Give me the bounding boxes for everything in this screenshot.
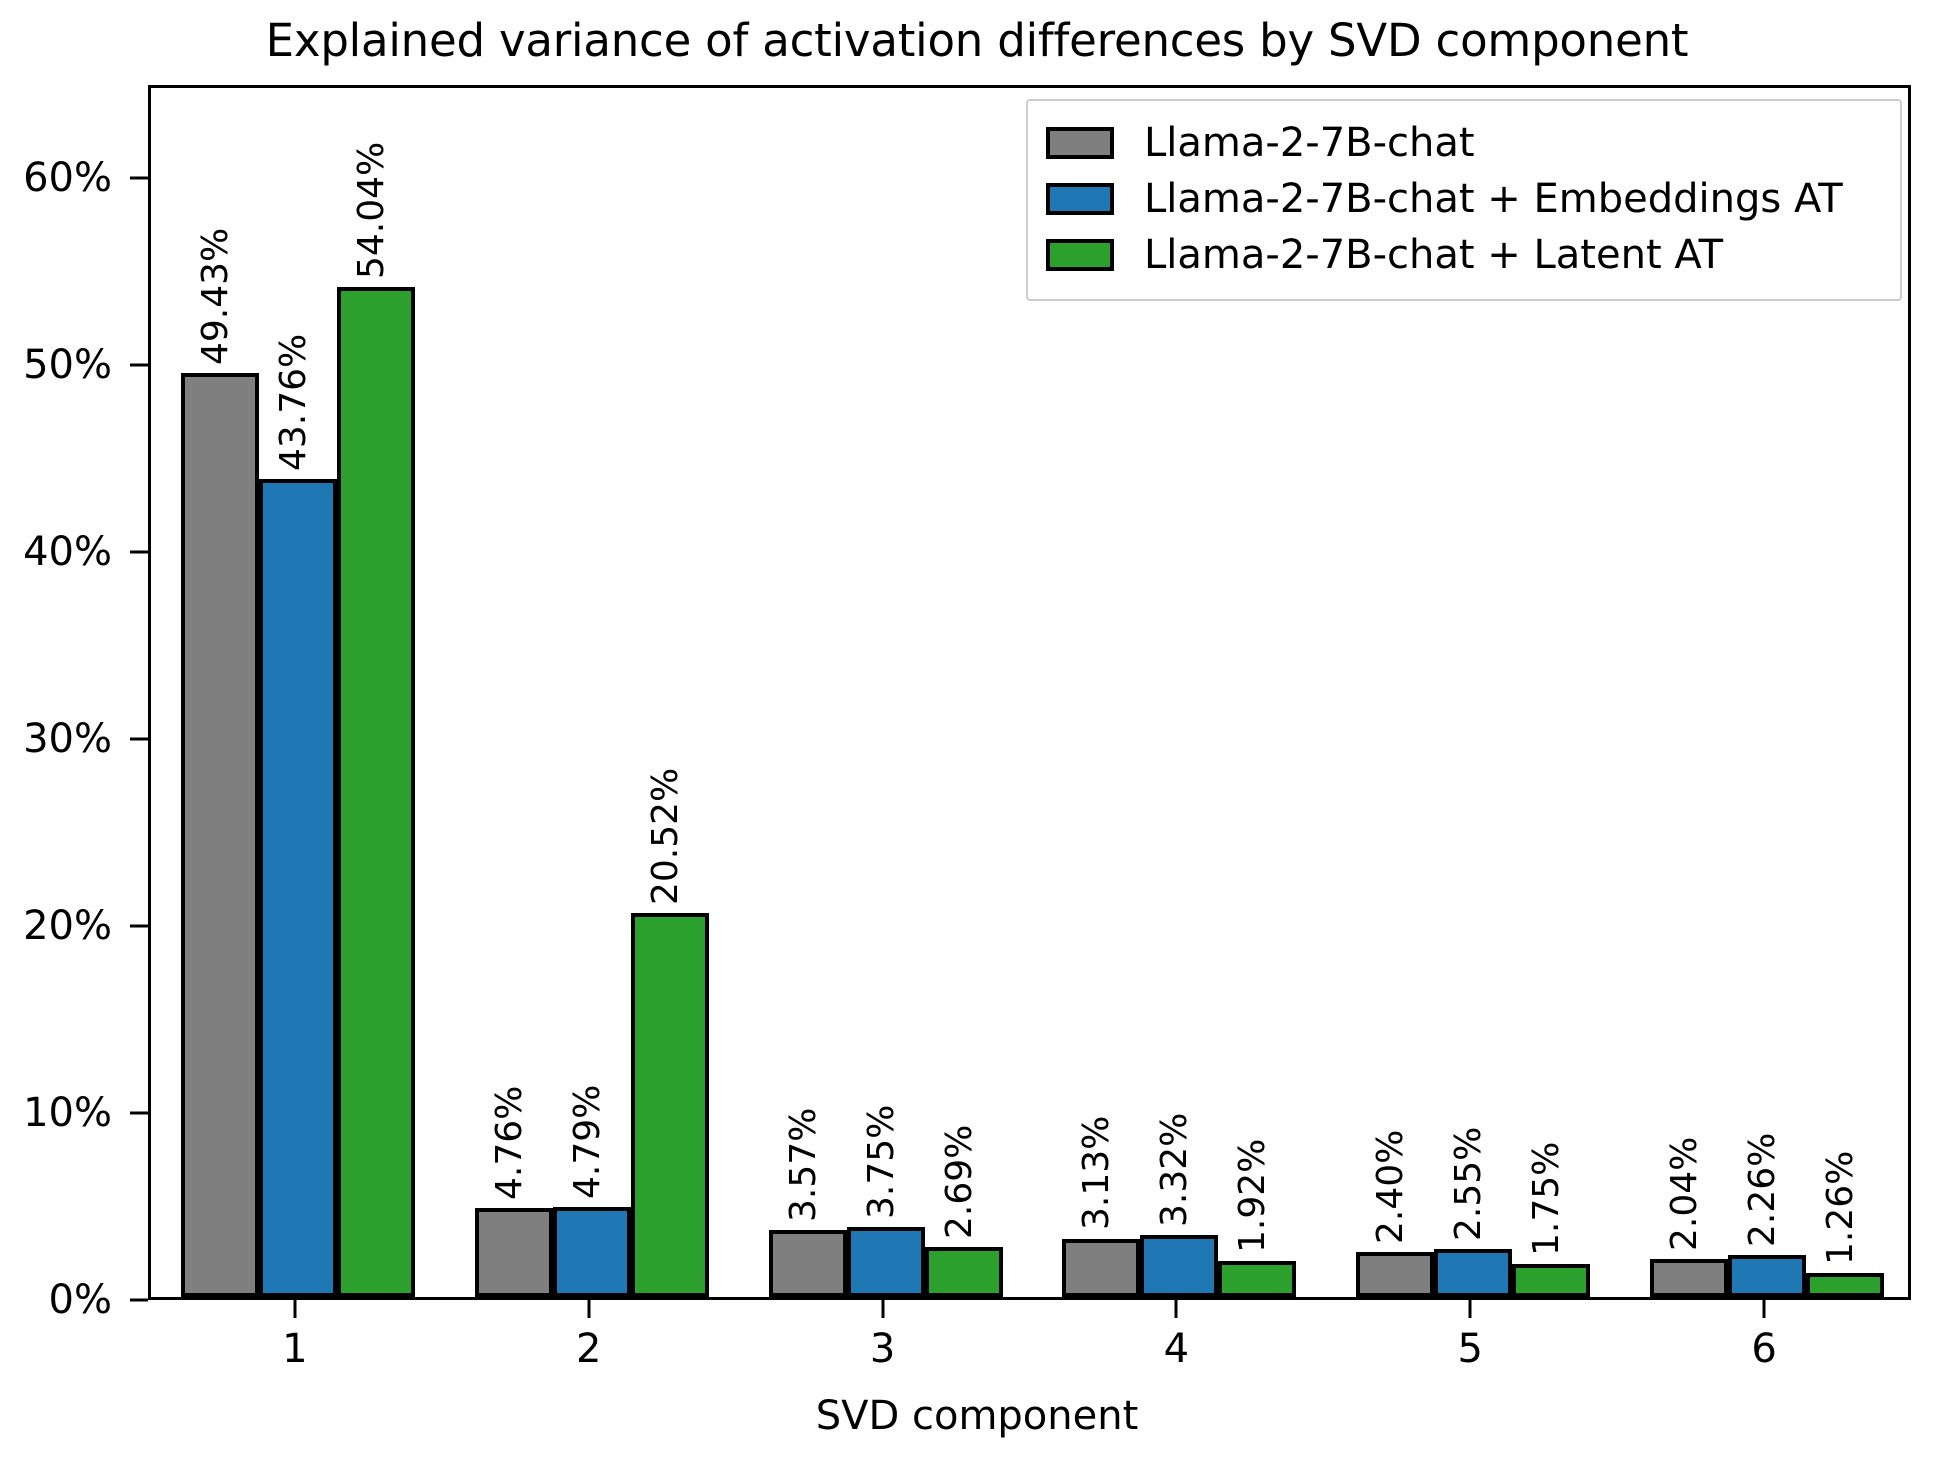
y-tick-label: 10% (23, 1090, 112, 1136)
x-tick-label: 4 (1164, 1326, 1189, 1372)
bar-value-label: 1.92% (1235, 1139, 1271, 1253)
bar[interactable] (181, 373, 259, 1297)
bar-value-label: 3.75% (864, 1105, 900, 1219)
y-tick-mark (130, 364, 148, 367)
bar[interactable] (769, 1230, 847, 1297)
bar-value-label: 3.13% (1079, 1116, 1115, 1230)
bar-value-label: 2.69% (942, 1124, 978, 1238)
y-tick-label: 50% (23, 342, 112, 388)
bar-value-label: 54.04% (354, 142, 390, 279)
y-tick-mark (130, 925, 148, 928)
bar[interactable] (1062, 1239, 1140, 1298)
bar[interactable] (259, 479, 337, 1297)
bar-value-label: 4.79% (570, 1085, 606, 1199)
bar[interactable] (553, 1207, 631, 1297)
x-tick-mark (1469, 1300, 1472, 1318)
legend-label: Llama-2-7B-chat (1144, 120, 1475, 166)
y-tick-label: 20% (23, 903, 112, 949)
x-tick-label: 5 (1458, 1326, 1483, 1372)
bar[interactable] (1512, 1264, 1590, 1297)
bar[interactable] (847, 1227, 925, 1297)
x-tick-label: 3 (870, 1326, 895, 1372)
legend-swatch-green (1046, 239, 1114, 271)
legend-swatch-gray (1046, 127, 1114, 159)
x-axis-title: SVD component (0, 1393, 1954, 1439)
x-tick-mark (293, 1300, 296, 1318)
chart-legend: Llama-2-7B-chat Llama-2-7B-chat + Embedd… (1026, 99, 1902, 301)
bar[interactable] (1650, 1259, 1728, 1297)
legend-item[interactable]: Llama-2-7B-chat + Embeddings AT (1046, 171, 1882, 227)
legend-swatch-blue (1046, 183, 1114, 215)
y-tick-label: 60% (23, 155, 112, 201)
x-tick-mark (881, 1300, 884, 1318)
x-tick-mark (1175, 1300, 1178, 1318)
legend-item[interactable]: Llama-2-7B-chat + Latent AT (1046, 227, 1882, 283)
bar[interactable] (475, 1208, 553, 1297)
bar-value-label: 2.55% (1451, 1127, 1487, 1241)
bar-value-label: 3.57% (786, 1108, 822, 1222)
bar[interactable] (1806, 1273, 1884, 1297)
x-tick-mark (1763, 1300, 1766, 1318)
bar[interactable] (925, 1247, 1003, 1297)
bar-value-label: 49.43% (198, 228, 234, 365)
page-title: Explained variance of activation differe… (0, 14, 1954, 67)
x-tick-label: 1 (282, 1326, 307, 1372)
y-tick-mark (130, 551, 148, 554)
bar[interactable] (1434, 1249, 1512, 1297)
x-tick-mark (587, 1300, 590, 1318)
y-tick-mark (130, 1112, 148, 1115)
bar-value-label: 3.32% (1157, 1113, 1193, 1227)
y-tick-mark (130, 1299, 148, 1302)
legend-label: Llama-2-7B-chat + Latent AT (1144, 232, 1723, 278)
y-tick-label: 30% (23, 716, 112, 762)
bar-value-label: 1.75% (1529, 1142, 1565, 1256)
bar[interactable] (1356, 1252, 1434, 1297)
y-tick-mark (130, 738, 148, 741)
bar-value-label: 1.26% (1823, 1151, 1859, 1265)
bar[interactable] (1140, 1235, 1218, 1297)
bar[interactable] (337, 287, 415, 1297)
legend-label: Llama-2-7B-chat + Embeddings AT (1144, 176, 1843, 222)
bar-value-label: 2.40% (1373, 1130, 1409, 1244)
bar-value-label: 20.52% (648, 768, 684, 905)
bar-value-label: 4.76% (492, 1086, 528, 1200)
bar-value-label: 43.76% (276, 334, 312, 471)
bar[interactable] (1218, 1261, 1296, 1297)
legend-item[interactable]: Llama-2-7B-chat (1046, 115, 1882, 171)
bar-value-label: 2.26% (1745, 1132, 1781, 1246)
bar[interactable] (1728, 1255, 1806, 1297)
y-tick-label: 40% (23, 529, 112, 575)
bar-value-label: 2.04% (1667, 1136, 1703, 1250)
y-tick-mark (130, 177, 148, 180)
chart-figure: Explained variance of activation differe… (0, 0, 1954, 1474)
y-tick-label: 0% (49, 1277, 112, 1323)
x-tick-label: 6 (1751, 1326, 1776, 1372)
bar[interactable] (631, 913, 709, 1297)
x-tick-label: 2 (576, 1326, 601, 1372)
